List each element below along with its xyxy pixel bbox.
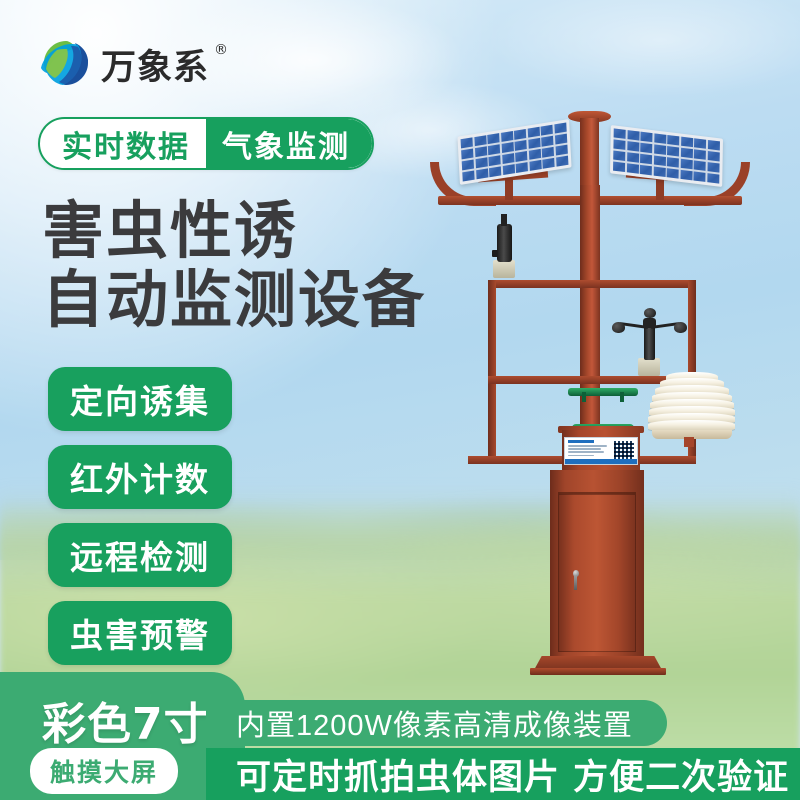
cabinet-key [574, 576, 577, 590]
anemometer-cup-right [674, 322, 687, 333]
radiation-shield-mount [684, 437, 694, 447]
frame-crossbar-top [488, 280, 696, 288]
tag-weather-monitoring: 气象监测 [206, 119, 372, 168]
feature-item-0: 定向诱集 [48, 367, 232, 431]
feature-item-2: 远程检测 [48, 523, 232, 587]
product-label [564, 437, 638, 465]
qr-code-icon [614, 441, 634, 461]
solar-cell-grid-left [461, 123, 569, 182]
wind-direction-sensor [497, 224, 512, 262]
feature-list: 定向诱集 红外计数 远程检测 虫害预警 [48, 367, 232, 665]
page-title: 害虫性诱 自动监测设备 [42, 196, 426, 335]
solar-panel-left [457, 119, 571, 185]
touchscreen-badge: 触摸大屏 [30, 748, 178, 794]
base-plate-edge [530, 668, 666, 675]
headline-line-1: 害虫性诱 [42, 196, 426, 265]
product-label-footer [565, 459, 637, 464]
solar-cell-grid-right [613, 128, 720, 183]
headline-line-2: 自动监测设备 [42, 265, 426, 334]
globe-swoosh-logo-icon [40, 38, 92, 90]
solar-panel-right [610, 125, 723, 187]
solar-mount-right-post [656, 178, 664, 200]
screen-size-title: 彩色7寸 [42, 688, 209, 752]
solar-mount-left-post [505, 178, 513, 200]
brand-name: 万象系 [101, 39, 209, 90]
anemometer-hub [643, 318, 656, 328]
trademark-symbol: ® [214, 42, 229, 58]
trap-cap-strut-left [582, 392, 586, 402]
product-photo [430, 100, 800, 680]
anemometer-shaft [644, 326, 655, 360]
brand-logo: 万象系 ® [40, 38, 233, 90]
radiation-shield [648, 372, 736, 434]
trap-cap-strut-right [620, 392, 624, 402]
top-tag-group: 实时数据 气象监测 [38, 117, 374, 170]
tag-realtime-data: 实时数据 [40, 119, 206, 168]
capture-spec-line: 可定时抓拍虫体图片 方便二次验证 [206, 748, 800, 800]
trap-rain-cap [568, 388, 638, 396]
wind-direction-sensor-base [493, 260, 515, 278]
cabinet-door[interactable] [558, 494, 636, 652]
poster-canvas: 万象系 ® 实时数据 气象监测 害虫性诱 自动监测设备 定向诱集 红外计数 远程… [0, 0, 800, 800]
mast-top [580, 118, 599, 190]
anemometer-cup-left [612, 322, 625, 333]
wind-direction-sensor-tip [501, 214, 507, 226]
camera-spec-line: 内置1200W像素高清成像装置 [206, 700, 667, 746]
frame-vertical-left [488, 280, 496, 460]
feature-item-3: 虫害预警 [48, 601, 232, 665]
feature-item-1: 红外计数 [48, 445, 232, 509]
anemometer-cup-top [644, 308, 656, 318]
